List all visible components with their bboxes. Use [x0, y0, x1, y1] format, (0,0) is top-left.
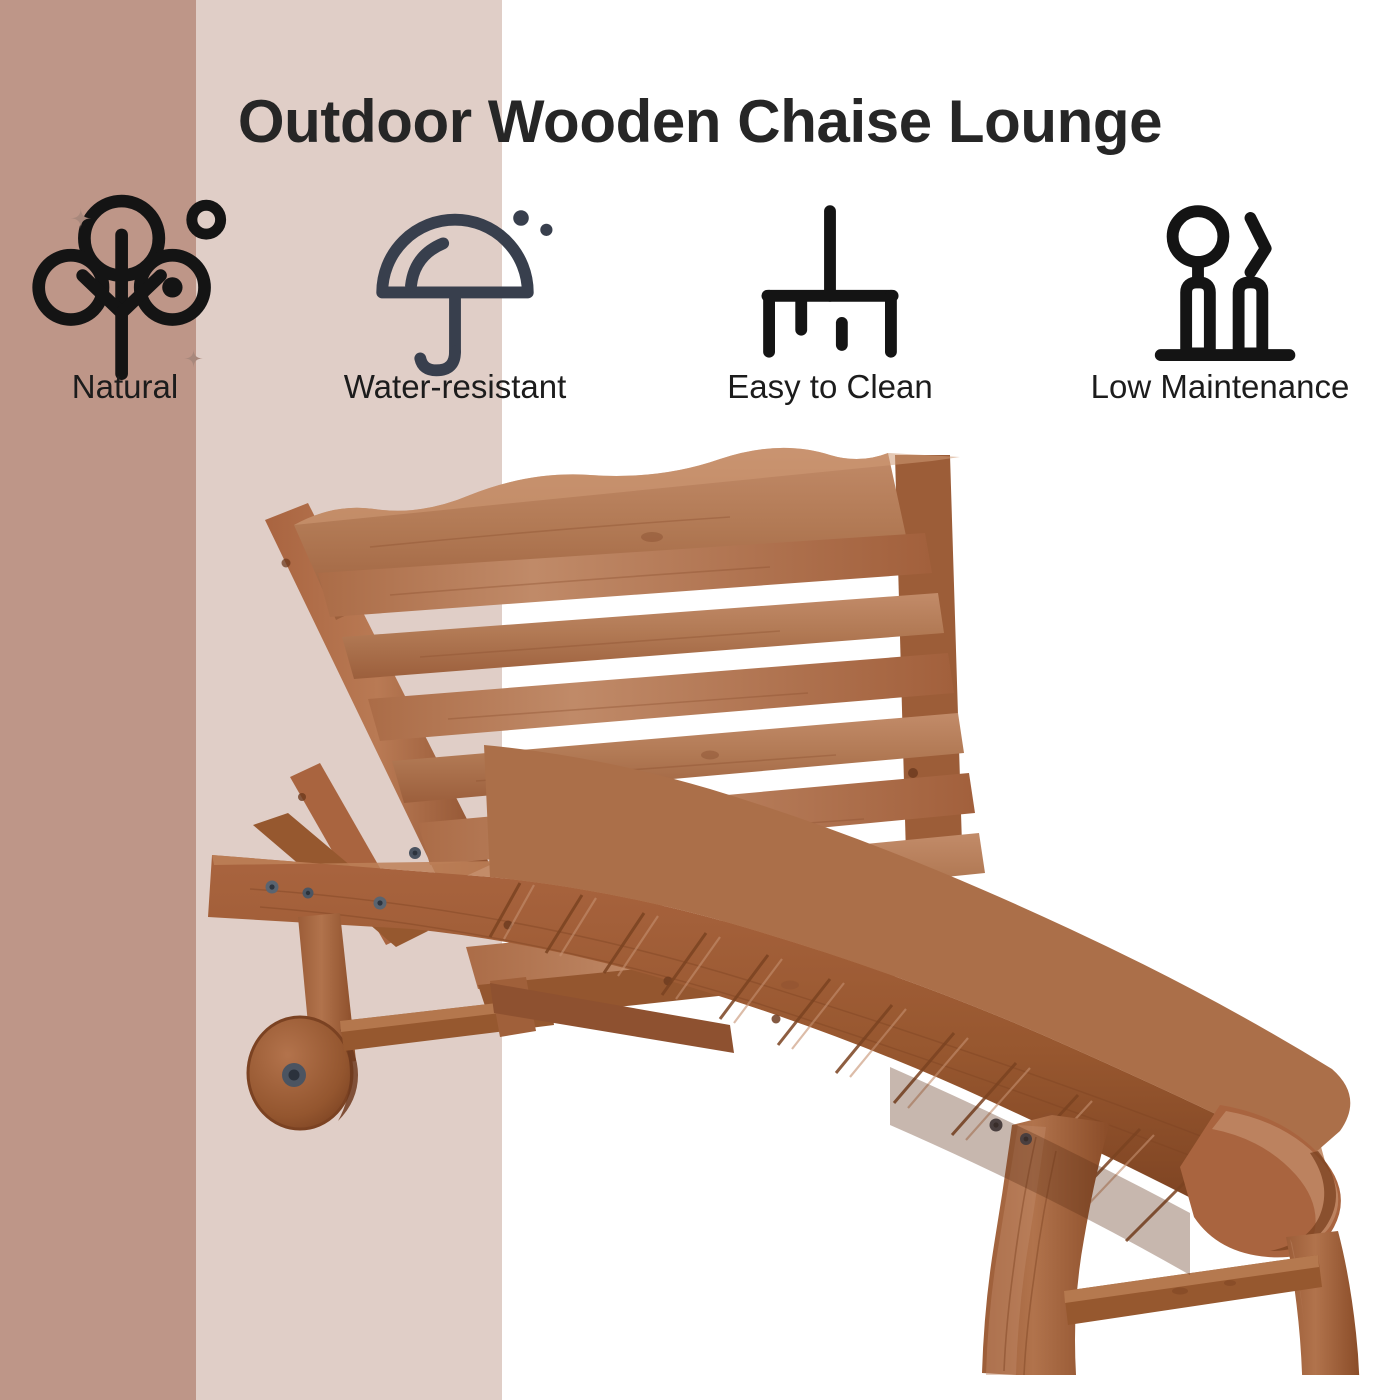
feature-label: Easy to Clean [680, 368, 980, 406]
feature-label: Water-resistant [305, 368, 605, 406]
feature-label: Natural [0, 368, 275, 406]
feature-label: Low Maintenance [1070, 368, 1370, 406]
feature-item-water-resistant: Water-resistant [345, 216, 565, 426]
brush-icon [720, 216, 940, 351]
feature-item-natural: Natural [15, 216, 235, 426]
product-image-chaise-lounge [190, 425, 1370, 1375]
feature-item-easy-to-clean: Easy to Clean [720, 216, 940, 426]
page-title: Outdoor Wooden Chaise Lounge [0, 92, 1400, 152]
feature-row: Natural Water-resistant [0, 216, 1400, 426]
product-marketing-image: Outdoor Wooden Chaise Lounge [0, 0, 1400, 1400]
garden-tools-icon [1110, 216, 1330, 351]
feature-item-low-maintenance: Low Maintenance [1110, 216, 1330, 426]
tree-icon [15, 216, 235, 351]
umbrella-icon [345, 216, 565, 351]
